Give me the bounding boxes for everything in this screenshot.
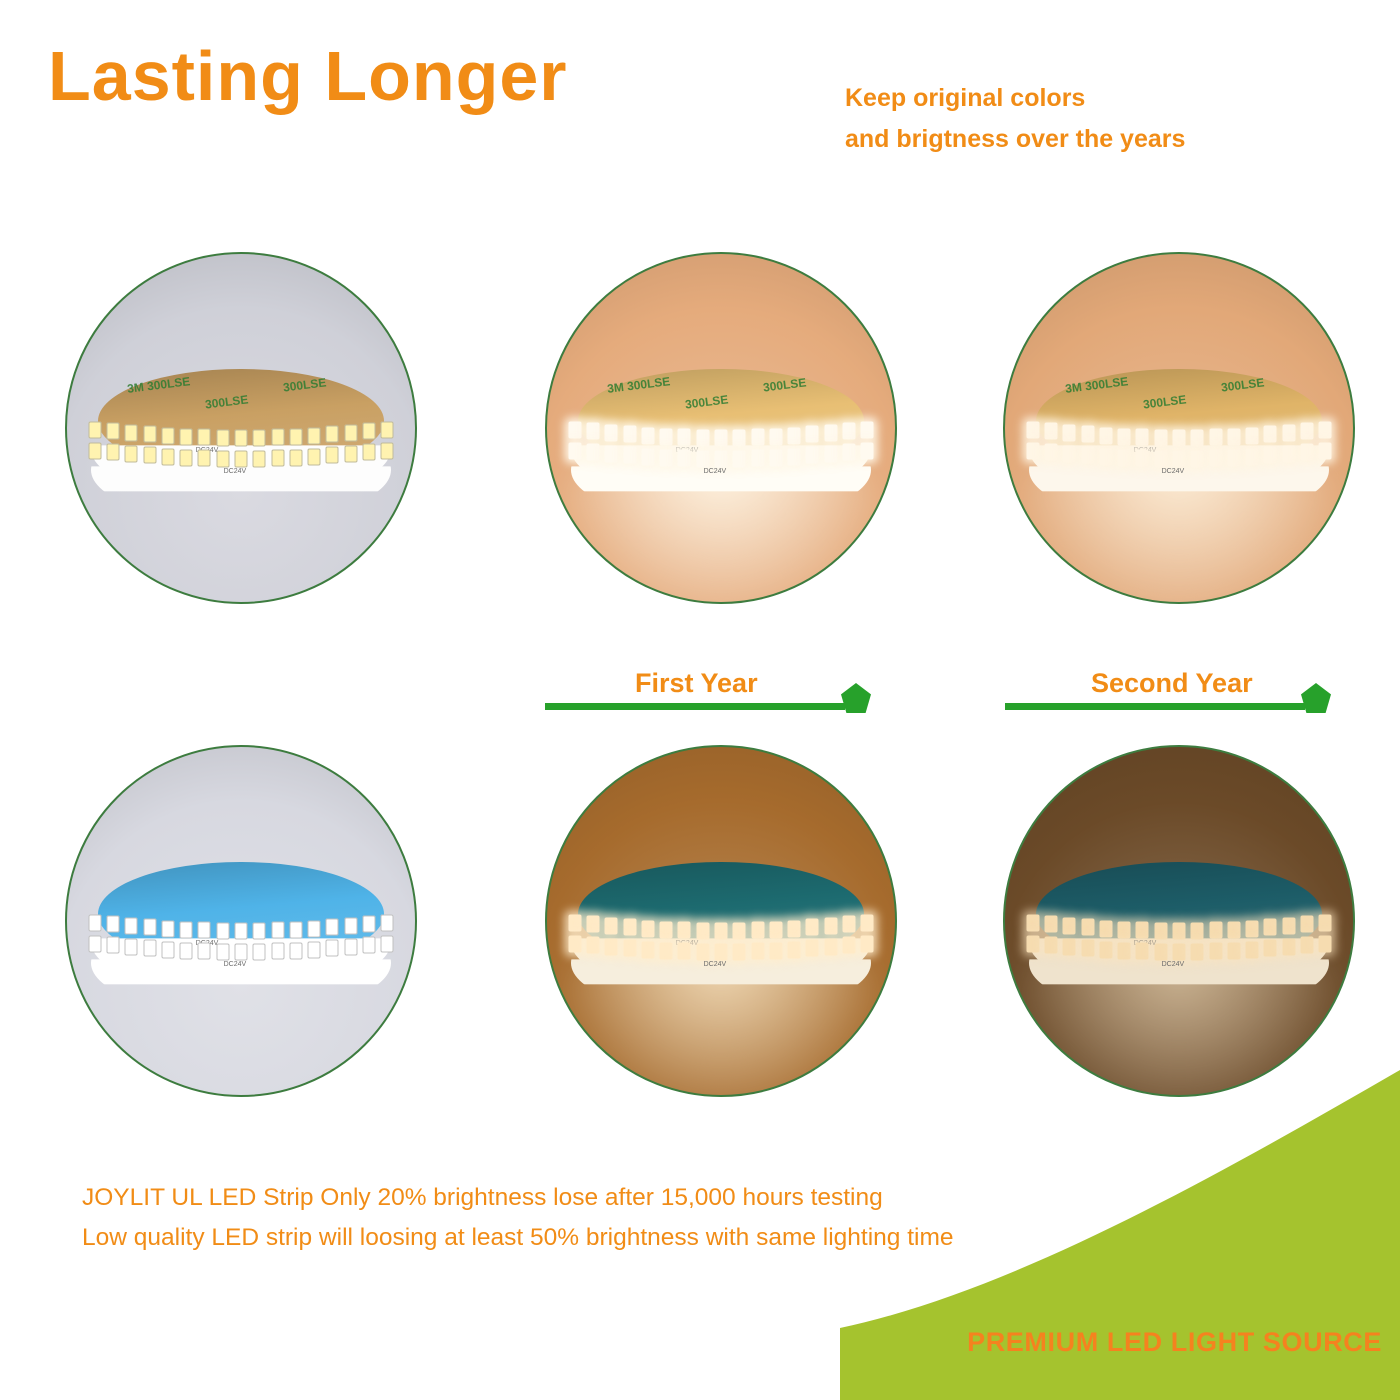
led-chip [587, 937, 600, 954]
led-strip-coil: 3M 300LSE300LSE300LSEDC24VDC24V [67, 254, 415, 602]
led-chip [107, 444, 120, 461]
led-chip [362, 444, 375, 461]
led-strip-coil: DC24VDC24V [1005, 747, 1353, 1095]
board-voltage-label: DC24V [704, 468, 727, 475]
led-chip [381, 442, 394, 459]
led-chip [788, 941, 801, 958]
led-chip [1300, 423, 1313, 440]
led-chip [842, 444, 855, 461]
led-chip [1264, 940, 1277, 957]
led-chip [1063, 938, 1076, 955]
led-chip [1319, 935, 1332, 952]
led-chip [107, 916, 120, 933]
led-chip [271, 943, 284, 960]
led-chip [1209, 450, 1222, 467]
led-chip [1081, 940, 1094, 957]
board-voltage-label: DC24V [1162, 468, 1185, 475]
led-chip [1081, 447, 1094, 464]
subtitle-line-1: Keep original colors [845, 78, 1185, 119]
led-chip [1191, 943, 1204, 960]
led-chip [842, 423, 855, 440]
led-chip [289, 449, 302, 466]
led-chip [326, 940, 339, 957]
board-voltage-label: DC24V [704, 961, 727, 968]
led-chip [733, 450, 746, 467]
bottom-copy-line-1: JOYLIT UL LED Strip Only 20% brightness … [82, 1178, 954, 1218]
led-chip [216, 450, 229, 467]
led-chip [769, 449, 782, 466]
led-chip [362, 937, 375, 954]
led-chip [842, 937, 855, 954]
led-chip [788, 448, 801, 465]
product-photo-joylit-ul-led-strip-first-year: 3M 300LSE300LSE300LSEDC24VDC24V [545, 252, 897, 604]
led-chip [769, 942, 782, 959]
board-voltage-label: DC24V [224, 468, 247, 475]
timeline-second-year-line [1005, 703, 1305, 710]
led-chip [180, 942, 193, 959]
led-chip [1319, 421, 1332, 438]
led-chip [751, 450, 764, 467]
led-chip [1026, 914, 1039, 931]
led-chip [824, 938, 837, 955]
led-chip [198, 943, 211, 960]
led-chip [1045, 916, 1058, 933]
board-voltage-label: DC24V [1162, 961, 1185, 968]
led-chip [678, 943, 691, 960]
led-chip [308, 448, 321, 465]
led-chip [1154, 943, 1167, 960]
led-chip [587, 423, 600, 440]
product-photo-low-quality-led-strip-new: DC24VDC24V [65, 745, 417, 1097]
led-chip [806, 940, 819, 957]
led-chip [1300, 444, 1313, 461]
led-chip [715, 450, 728, 467]
led-strip-coil: DC24VDC24V [67, 747, 415, 1095]
led-chip [326, 447, 339, 464]
led-chip [1209, 943, 1222, 960]
footer-tagline: PREMIUM LED LIGHT SOURCE [967, 1327, 1382, 1358]
led-strip-coil: 3M 300LSE300LSE300LSEDC24VDC24V [1005, 254, 1353, 602]
led-chip [660, 942, 673, 959]
led-chip [1319, 442, 1332, 459]
led-chip [1319, 914, 1332, 931]
led-chip [88, 442, 101, 459]
led-chip [1264, 447, 1277, 464]
led-strip-coil: DC24VDC24V [547, 747, 895, 1095]
led-chip [198, 450, 211, 467]
led-chip [715, 943, 728, 960]
led-chip [587, 916, 600, 933]
led-chip [161, 941, 174, 958]
led-chip [271, 450, 284, 467]
led-chip [216, 943, 229, 960]
led-chip [235, 943, 248, 960]
led-chip [660, 449, 673, 466]
product-photo-low-quality-led-strip-second-year: DC24VDC24V [1003, 745, 1355, 1097]
led-chip [1227, 942, 1240, 959]
led-chip [344, 938, 357, 955]
led-chip [125, 938, 138, 955]
led-chip [1026, 442, 1039, 459]
product-photo-low-quality-led-strip-first-year: DC24VDC24V [545, 745, 897, 1097]
led-chip [362, 423, 375, 440]
led-chip [861, 914, 874, 931]
led-chip [568, 442, 581, 459]
timeline-first-year-line [545, 703, 845, 710]
led-chip [1227, 449, 1240, 466]
subtitle-block: Keep original colors and brigtness over … [845, 78, 1185, 161]
led-chip [1045, 444, 1058, 461]
led-chip [696, 450, 709, 467]
led-chip [842, 916, 855, 933]
led-chip [107, 423, 120, 440]
timeline-first-year: First Year [545, 660, 875, 710]
led-chip [1063, 445, 1076, 462]
led-chip [1026, 421, 1039, 438]
led-strip-coil: 3M 300LSE300LSE300LSEDC24VDC24V [547, 254, 895, 602]
led-chip [1282, 938, 1295, 955]
product-photo-joylit-ul-led-strip-new: 3M 300LSE300LSE300LSEDC24VDC24V [65, 252, 417, 604]
led-chip [180, 449, 193, 466]
subtitle-line-2: and brigtness over the years [845, 119, 1185, 160]
led-chip [1173, 450, 1186, 467]
led-chip [1099, 448, 1112, 465]
led-chip [362, 916, 375, 933]
led-chip [143, 447, 156, 464]
led-chip [1099, 941, 1112, 958]
led-chip [88, 421, 101, 438]
led-chip [1246, 941, 1259, 958]
led-chip [733, 943, 746, 960]
led-chip [587, 444, 600, 461]
led-chip [678, 450, 691, 467]
led-chip [253, 943, 266, 960]
timeline-second-year-label: Second Year [1091, 668, 1253, 699]
led-chip [1191, 450, 1204, 467]
led-chip [1282, 445, 1295, 462]
led-chip [824, 445, 837, 462]
led-chip [289, 942, 302, 959]
led-chip [1136, 450, 1149, 467]
led-chip [381, 421, 394, 438]
led-chip [1118, 449, 1131, 466]
led-chip [751, 943, 764, 960]
arrow-right-icon [841, 683, 871, 713]
led-chip [568, 914, 581, 931]
timeline-second-year: Second Year [1005, 660, 1335, 710]
led-chip [623, 447, 636, 464]
led-chip [88, 935, 101, 952]
board-voltage-label: DC24V [224, 961, 247, 968]
led-chip [861, 935, 874, 952]
led-chip [1026, 935, 1039, 952]
led-chip [1246, 448, 1259, 465]
product-photo-joylit-ul-led-strip-second-year: 3M 300LSE300LSE300LSEDC24VDC24V [1003, 252, 1355, 604]
led-chip [308, 941, 321, 958]
page-title: Lasting Longer [48, 36, 568, 116]
bottom-copy-block: JOYLIT UL LED Strip Only 20% brightness … [82, 1178, 954, 1257]
arrow-right-icon [1301, 683, 1331, 713]
led-chip [143, 940, 156, 957]
timeline-first-year-label: First Year [635, 668, 758, 699]
led-chip [1045, 423, 1058, 440]
led-chip [125, 445, 138, 462]
led-chip [1136, 943, 1149, 960]
led-chip [605, 445, 618, 462]
led-chip [381, 914, 394, 931]
led-chip [696, 943, 709, 960]
led-chip [235, 450, 248, 467]
led-chip [806, 447, 819, 464]
led-chip [623, 940, 636, 957]
led-chip [641, 941, 654, 958]
led-chip [1045, 937, 1058, 954]
led-chip [1300, 937, 1313, 954]
led-chip [861, 421, 874, 438]
led-chip [1300, 916, 1313, 933]
led-chip [1118, 942, 1131, 959]
led-chip [1173, 943, 1186, 960]
led-chip [107, 937, 120, 954]
led-chip [253, 450, 266, 467]
led-chip [1154, 450, 1167, 467]
led-chip [861, 442, 874, 459]
led-chip [641, 448, 654, 465]
led-chip [88, 914, 101, 931]
led-chip [381, 935, 394, 952]
led-chip [161, 448, 174, 465]
led-chip [605, 938, 618, 955]
bottom-copy-line-2: Low quality LED strip will loosing at le… [82, 1218, 954, 1258]
led-chip [568, 421, 581, 438]
led-chip [568, 935, 581, 952]
led-chip [344, 445, 357, 462]
